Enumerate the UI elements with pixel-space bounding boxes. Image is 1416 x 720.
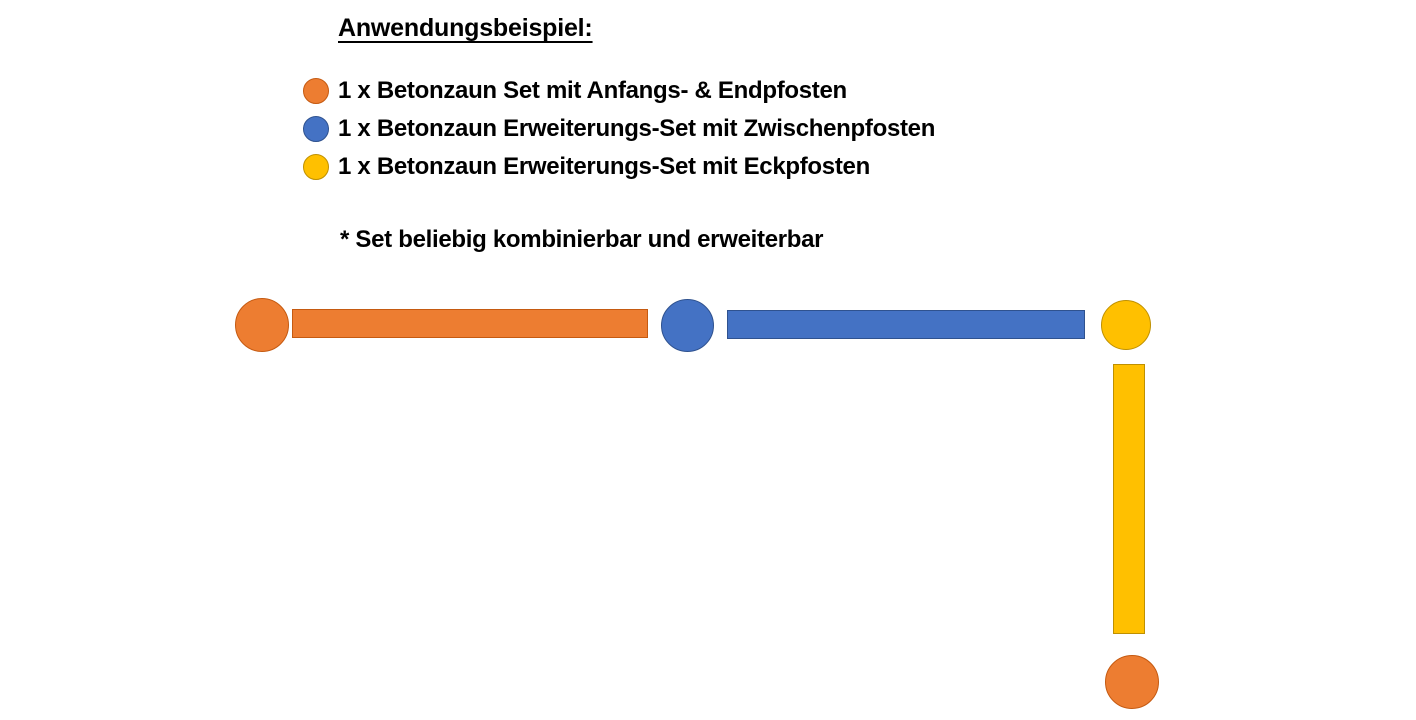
legend-item-label: 1 x Betonzaun Erweiterungs-Set mit Eckpf… xyxy=(338,155,870,179)
legend-item-anfangs-endpfosten: 1 x Betonzaun Set mit Anfangs- & Endpfos… xyxy=(303,72,1063,110)
diagram-post-corner xyxy=(1101,300,1151,350)
diagram-panel-orange xyxy=(292,309,648,338)
footnote-text: * Set beliebig kombinierbar und erweiter… xyxy=(340,226,823,254)
blue-circle-bullet-icon xyxy=(303,116,329,142)
yellow-circle-bullet-icon xyxy=(303,154,329,180)
diagram-panel-blue xyxy=(727,310,1085,339)
diagram-post-start xyxy=(235,298,289,352)
diagram-post-middle xyxy=(661,299,714,352)
legend: 1 x Betonzaun Set mit Anfangs- & Endpfos… xyxy=(303,72,1063,186)
legend-item-zwischenpfosten: 1 x Betonzaun Erweiterungs-Set mit Zwisc… xyxy=(303,110,1063,148)
page-title: Anwendungsbeispiel: xyxy=(338,14,593,43)
orange-circle-bullet-icon xyxy=(303,78,329,104)
diagram-panel-yellow-vertical xyxy=(1113,364,1145,634)
diagram-post-end xyxy=(1105,655,1159,709)
diagram-canvas: Anwendungsbeispiel: 1 x Betonzaun Set mi… xyxy=(0,0,1416,720)
legend-item-label: 1 x Betonzaun Set mit Anfangs- & Endpfos… xyxy=(338,79,847,103)
legend-item-eckpfosten: 1 x Betonzaun Erweiterungs-Set mit Eckpf… xyxy=(303,148,1063,186)
legend-item-label: 1 x Betonzaun Erweiterungs-Set mit Zwisc… xyxy=(338,117,935,141)
